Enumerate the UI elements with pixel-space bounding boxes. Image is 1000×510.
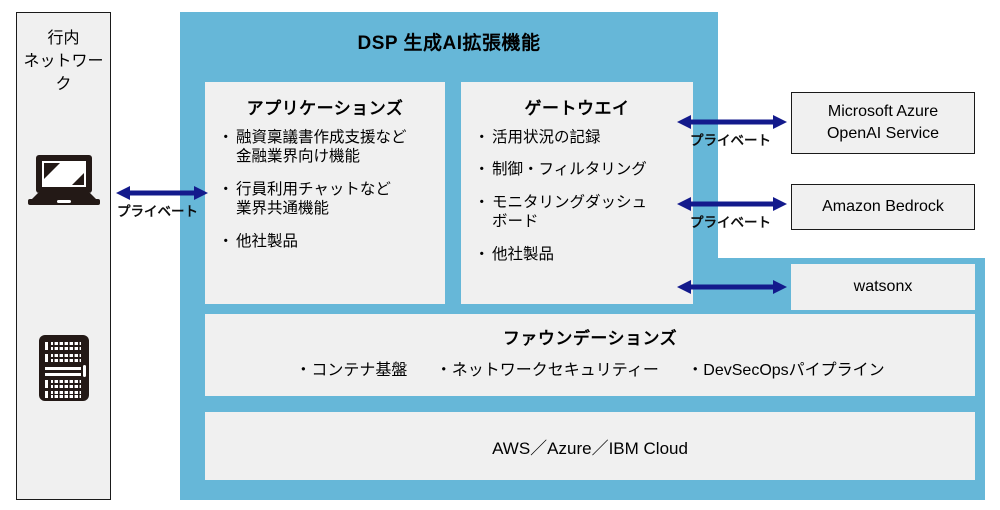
list-item: 活用状況の記録 — [475, 128, 685, 147]
provider-label: Amazon Bedrock — [822, 196, 944, 218]
provider-box-azure: Microsoft Azure OpenAI Service — [791, 92, 975, 154]
on-prem-network-title: 行内 ネットワーク — [17, 27, 110, 97]
foundations-item: ・ネットワークセキュリティー — [436, 362, 659, 379]
provider-label: watsonx — [854, 276, 913, 298]
foundations-title: ファウンデーションズ — [205, 324, 975, 349]
foundations-card: ファウンデーションズ ・コンテナ基盤 ・ネットワークセキュリティー ・DevSe… — [205, 314, 975, 396]
foundations-items: ・コンテナ基盤 ・ネットワークセキュリティー ・DevSecOpsパイプライン — [205, 356, 975, 380]
foundations-item: ・コンテナ基盤 — [295, 362, 407, 379]
platform-title: DSP 生成AI拡張機能 — [180, 28, 718, 55]
list-item: 他社製品 — [219, 232, 437, 251]
cloud-providers-card: AWS／Azure／IBM Cloud — [205, 412, 975, 480]
gateway-card: ゲートウエイ 活用状況の記録 制御・フィルタリング モニタリングダッシュ ボード… — [461, 82, 693, 304]
applications-title: アプリケーションズ — [205, 94, 445, 119]
connection-arrow-bedrock — [677, 196, 787, 212]
applications-card: アプリケーションズ 融資稟議書作成支援など 金融業界向け機能 行員利用チャットな… — [205, 82, 445, 304]
connection-label-onprem: プライベート — [117, 200, 198, 220]
connection-arrow-azure — [677, 114, 787, 130]
provider-box-watsonx: watsonx — [791, 264, 975, 310]
foundations-item: ・DevSecOpsパイプライン — [687, 362, 884, 379]
provider-box-bedrock: Amazon Bedrock — [791, 184, 975, 230]
connection-label-azure: プライベート — [690, 129, 771, 149]
connection-arrow-watsonx — [677, 279, 787, 295]
connection-arrow-onprem — [116, 185, 208, 201]
diagram-canvas: 行内 ネットワーク — [0, 0, 1000, 510]
list-item: 他社製品 — [475, 245, 685, 264]
cloud-providers-label: AWS／Azure／IBM Cloud — [205, 412, 975, 480]
gateway-list: 活用状況の記録 制御・フィルタリング モニタリングダッシュ ボード 他社製品 — [475, 128, 685, 277]
connection-label-bedrock: プライベート — [690, 211, 771, 231]
applications-list: 融資稟議書作成支援など 金融業界向け機能 行員利用チャットなど 業界共通機能 他… — [219, 128, 437, 264]
list-item: モニタリングダッシュ ボード — [475, 193, 685, 232]
on-prem-network-panel: 行内 ネットワーク — [16, 12, 111, 500]
list-item: 行員利用チャットなど 業界共通機能 — [219, 180, 437, 219]
server-rack-icon — [37, 333, 91, 408]
gateway-title: ゲートウエイ — [461, 94, 693, 119]
provider-label: Microsoft Azure OpenAI Service — [827, 101, 939, 144]
list-item: 融資稟議書作成支援など 金融業界向け機能 — [219, 128, 437, 167]
laptop-icon — [28, 153, 100, 212]
list-item: 制御・フィルタリング — [475, 160, 685, 179]
